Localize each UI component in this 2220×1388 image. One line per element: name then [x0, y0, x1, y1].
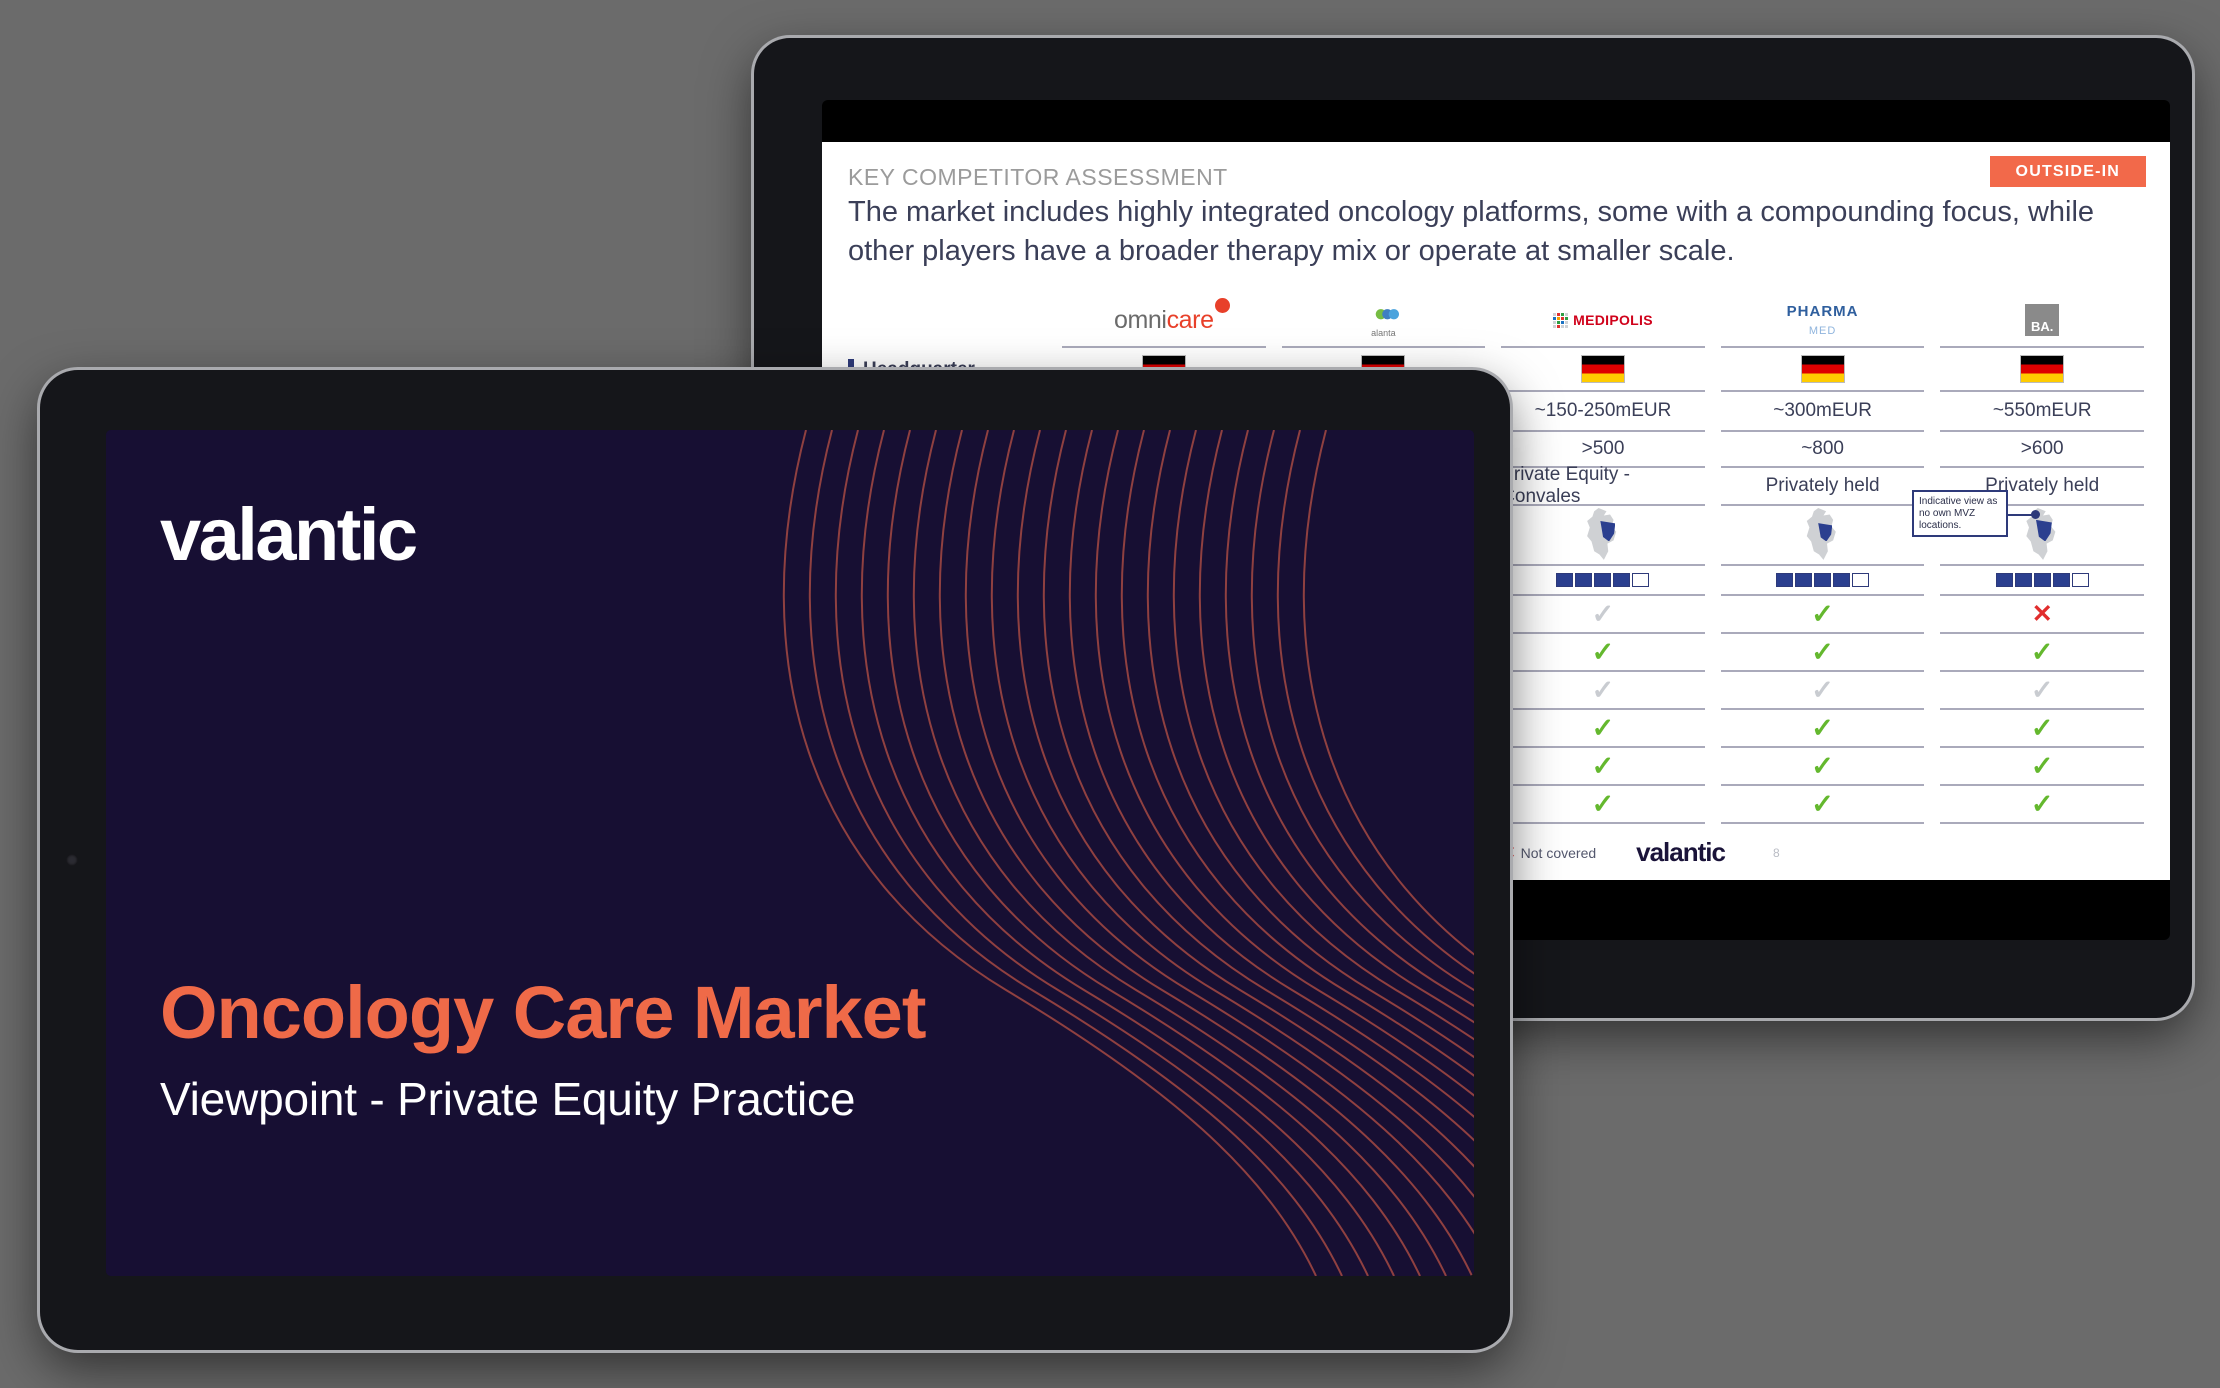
omnicare-logo-text-b: care: [1167, 306, 1214, 334]
omnicare-logo-text-a: omni: [1114, 306, 1167, 334]
check-icon-yes: ✓: [1592, 753, 1615, 780]
page-number: 8: [1773, 846, 1780, 860]
check-icon-partial: ✓: [2031, 677, 2054, 704]
page-title: Oncology Care Market: [160, 974, 925, 1052]
staff-value: >500: [1501, 432, 1705, 468]
competitor-column-ba[interactable]: BA. ~550mEUR >600 Privately held ✕ ✓ ✓: [1940, 294, 2144, 824]
status-badge-outside-in: OUTSIDE-IN: [1990, 156, 2146, 187]
tablet-front[interactable]: valantic Oncology Care Market Viewpoint …: [40, 370, 1510, 1350]
check-icon-yes: ✓: [1811, 715, 1834, 742]
title-slide: valantic Oncology Care Market Viewpoint …: [106, 430, 1474, 1276]
alanta-logo: ●●● alanta: [1282, 294, 1486, 348]
check-icon-partial: ✓: [1592, 677, 1615, 704]
alanta-rings-icon: ●●●: [1374, 302, 1394, 326]
medipolis-logo: MEDIPOLIS: [1501, 294, 1705, 348]
germany-flag-icon: [1501, 348, 1705, 392]
check-icon-yes: ✓: [2031, 639, 2054, 666]
omnicare-logo: omnicare: [1062, 294, 1266, 348]
germany-flag-icon: [1721, 348, 1925, 392]
germany-coverage-map-icon: [1721, 506, 1925, 566]
competitor-column-medipolis[interactable]: MEDIPOLIS ~150-250mEUR >500 Private Equi…: [1501, 294, 1705, 824]
germany-flag-icon: [1940, 348, 2144, 392]
pharmamed-logo-text-a: PHARMA: [1787, 303, 1859, 320]
camera-icon: [66, 854, 78, 866]
pharmamed-logo: PHARMA MED: [1721, 294, 1925, 348]
ba-logo: BA.: [1940, 294, 2144, 348]
check-icon-yes: ✓: [1811, 791, 1834, 818]
ba-logo-text-a: BA.: [2031, 319, 2053, 336]
slide-kicker: KEY COMPETITOR ASSESSMENT: [848, 164, 2144, 191]
callout-indicative-view: Indicative view as no own MVZ locations.: [1912, 490, 2008, 537]
check-icon-yes: ✓: [2031, 715, 2054, 742]
legend-item-not-covered: ✕ Not covered: [1501, 843, 1596, 863]
check-icon-yes: ✓: [1811, 639, 1834, 666]
omnicare-dot-icon: [1215, 298, 1230, 313]
ownership-value: Privately held: [1721, 468, 1925, 506]
coverage-rating-bars: [1721, 566, 1925, 596]
check-icon-yes: ✓: [1811, 601, 1834, 628]
tablet-front-screen[interactable]: valantic Oncology Care Market Viewpoint …: [106, 430, 1474, 1276]
check-icon-partial: ✓: [1592, 601, 1615, 628]
check-icon-yes: ✓: [1592, 715, 1615, 742]
medipolis-logo-text-a: MEDIPOLIS: [1573, 312, 1653, 328]
pharmamed-logo-text-b: MED: [1809, 325, 1836, 337]
check-icon-partial: ✓: [1811, 677, 1834, 704]
coverage-rating-bars: [1501, 566, 1705, 596]
alanta-logo-text-a: alanta: [1371, 328, 1396, 338]
competitor-column-pharmamed[interactable]: PHARMA MED ~300mEUR ~800 Privately held …: [1721, 294, 1925, 824]
callout-text: Indicative view as no own MVZ locations.: [1919, 496, 1997, 531]
slide-headline: The market includes highly integrated on…: [848, 193, 2144, 271]
page-subtitle: Viewpoint - Private Equity Practice: [160, 1072, 925, 1126]
staff-value: ~800: [1721, 432, 1925, 468]
valantic-logo: valantic: [160, 492, 416, 577]
valantic-logo-footer: valantic: [1636, 837, 1725, 868]
coverage-rating-bars: [1940, 566, 2144, 596]
medipolis-cross-icon: [1553, 313, 1568, 328]
revenue-value: ~150-250mEUR: [1501, 392, 1705, 432]
check-icon-yes: ✓: [2031, 753, 2054, 780]
check-icon-yes: ✓: [1592, 639, 1615, 666]
title-block: Oncology Care Market Viewpoint - Private…: [160, 974, 925, 1126]
staff-value: >600: [1940, 432, 2144, 468]
revenue-value: ~550mEUR: [1940, 392, 2144, 432]
ownership-value: Private Equity - Convales: [1501, 468, 1705, 506]
callout-connector: [2006, 514, 2036, 516]
check-icon-yes: ✓: [1811, 753, 1834, 780]
germany-coverage-map-icon: [1501, 506, 1705, 566]
check-icon-yes: ✓: [2031, 791, 2054, 818]
revenue-value: ~300mEUR: [1721, 392, 1925, 432]
cross-icon-no: ✕: [2032, 602, 2053, 627]
legend-item-label: Not covered: [1521, 845, 1596, 861]
check-icon-yes: ✓: [1592, 791, 1615, 818]
